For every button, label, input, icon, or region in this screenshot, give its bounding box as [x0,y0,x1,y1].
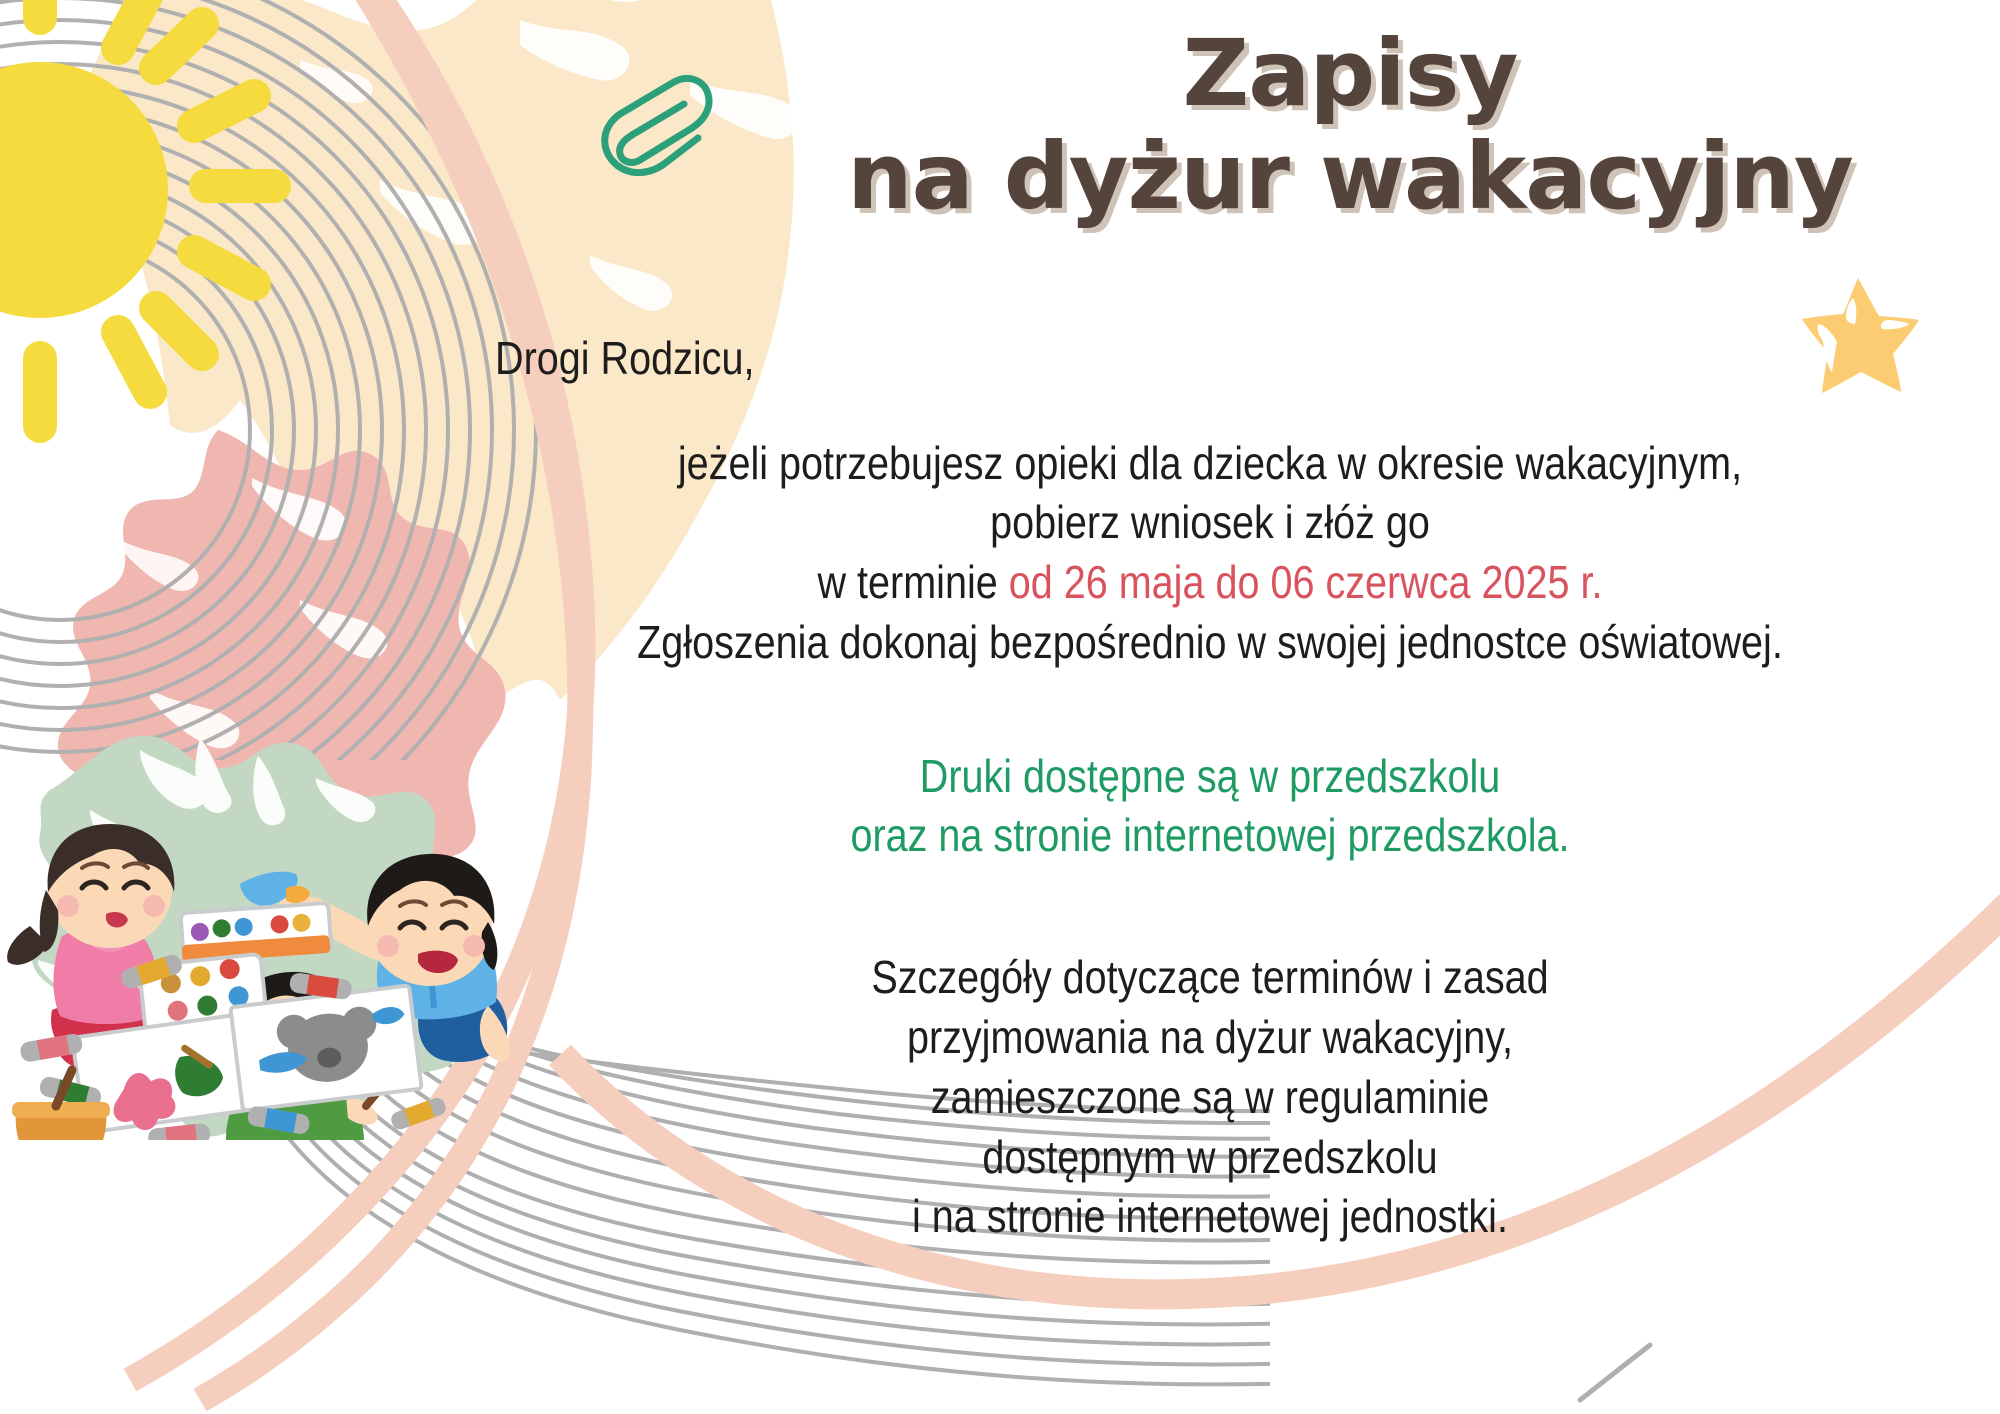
paperclip-icon [588,72,718,192]
para1-line-4: Zgłoszenia dokonaj bezpośrednio w swojej… [582,613,1838,673]
spacer-2 [480,866,1940,948]
para1-line-3: w terminie od 26 maja do 06 czerwca 2025… [582,553,1838,613]
deadline-prefix: w terminie [817,556,1008,608]
para3-line-2: przyjmowania na dyżur wakacyjny, [582,1008,1838,1068]
para2-line-1: Druki dostępne są w przedszkolu [582,747,1838,807]
salutation: Drogi Rodzicu, [495,330,1738,388]
para3-line-4: dostępnym w przedszkolu [582,1128,1838,1188]
children-painting-illustration [0,640,510,1140]
deadline-dates: od 26 maja do 06 czerwca 2025 r. [1009,556,1603,608]
drawing-sheet-koala [230,985,421,1110]
body-copy: Drogi Rodzicu, jeżeli potrzebujesz opiek… [480,330,1940,1247]
para1-line-2: pobierz wniosek i złóż go [582,493,1838,553]
accent-stroke [1580,1345,1650,1400]
title-line-2: na dyżur wakacyjny [760,125,1940,228]
para3-line-5: i na stronie internetowej jednostki. [582,1187,1838,1247]
paragraph-application-info: jeżeli potrzebujesz opieki dla dziecka w… [480,434,1940,673]
paragraph-forms-availability: Druki dostępne są w przedszkolu oraz na … [480,747,1940,867]
para3-line-1: Szczegóły dotyczące terminów i zasad [582,948,1838,1008]
poster-canvas: Zapisy na dyżur wakacyjny Drogi Rodzicu,… [0,0,2000,1414]
para1-line-1: jeżeli potrzebujesz opieki dla dziecka w… [582,434,1838,494]
spacer-1 [480,673,1940,747]
para2-line-2: oraz na stronie internetowej przedszkola… [582,806,1838,866]
page-title: Zapisy na dyżur wakacyjny [760,22,1940,228]
paragraph-details: Szczegóły dotyczące terminów i zasad prz… [480,948,1940,1247]
title-line-1: Zapisy [760,22,1940,125]
para3-line-3: zamieszczone są w regulaminie [582,1068,1838,1128]
